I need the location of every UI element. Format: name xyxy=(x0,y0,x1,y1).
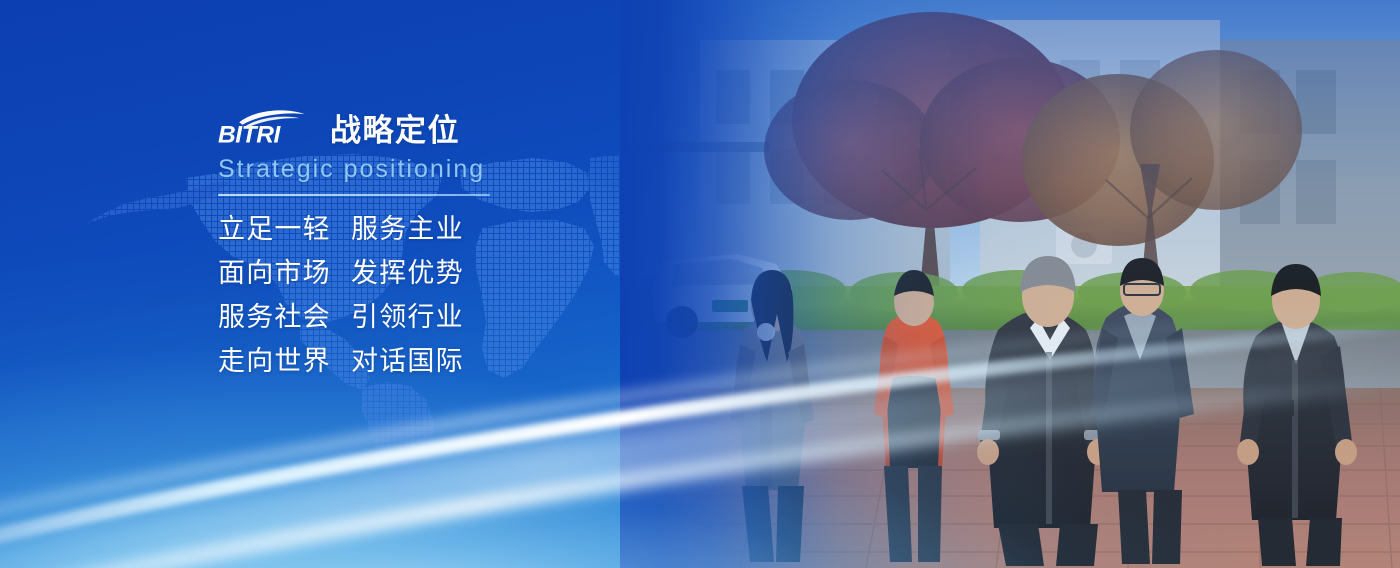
slogan-right: 服务主业 xyxy=(351,216,464,243)
bitri-logo: BITRI xyxy=(218,108,316,148)
slogan-line: 走向世界 对话国际 xyxy=(218,348,638,375)
slogan-left: 走向世界 xyxy=(218,348,351,375)
slogan-right: 对话国际 xyxy=(351,348,464,375)
banner-content: BITRI 战略定位 Strategic positioning 立足一轻 服务… xyxy=(218,104,638,375)
svg-text:BITRI: BITRI xyxy=(218,122,282,149)
slogan-line: 面向市场 发挥优势 xyxy=(218,260,638,287)
subtitle-english: Strategic positioning xyxy=(218,157,638,182)
slogan-right: 引领行业 xyxy=(351,304,464,331)
title-row: BITRI 战略定位 xyxy=(218,104,638,148)
slogan-left: 立足一轻 xyxy=(218,216,351,243)
campus-walkway-photo xyxy=(620,0,1400,568)
title-divider xyxy=(218,194,490,196)
strategic-positioning-banner: BITRI 战略定位 Strategic positioning 立足一轻 服务… xyxy=(0,0,1400,568)
slogan-line: 立足一轻 服务主业 xyxy=(218,216,638,243)
slogan-left: 服务社会 xyxy=(218,304,351,331)
title-chinese: 战略定位 xyxy=(330,115,460,146)
slogan-line: 服务社会 引领行业 xyxy=(218,304,638,331)
slogan-left: 面向市场 xyxy=(218,260,351,287)
slogan-list: 立足一轻 服务主业 面向市场 发挥优势 服务社会 引领行业 走向世界 对话国际 xyxy=(218,216,638,375)
slogan-right: 发挥优势 xyxy=(351,260,464,287)
